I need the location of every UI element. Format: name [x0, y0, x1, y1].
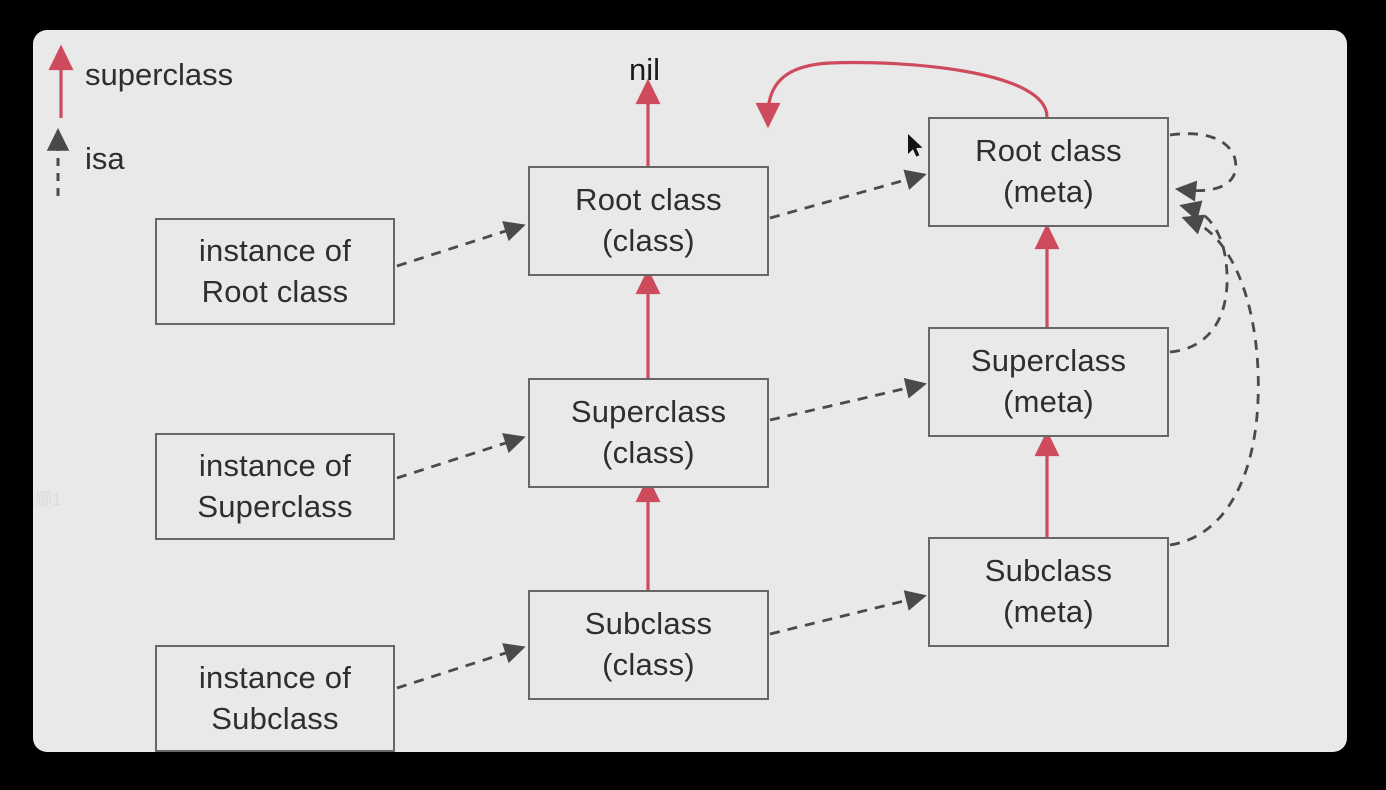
node-root-class[interactable]: Root class (class)	[528, 166, 769, 276]
node-line-2: (class)	[602, 433, 695, 474]
node-line-2: (meta)	[1003, 382, 1094, 423]
node-line-1: Subclass	[985, 551, 1112, 592]
node-instance-of-superclass[interactable]: instance of Superclass	[155, 433, 395, 540]
nil-label: nil	[629, 52, 660, 88]
node-line-1: Root class	[575, 180, 722, 221]
node-line-2: Subclass	[211, 699, 338, 740]
legend-label-superclass: superclass	[85, 57, 233, 93]
legend-label-isa: isa	[85, 141, 125, 177]
node-instance-of-root-class[interactable]: instance of Root class	[155, 218, 395, 325]
node-line-2: (class)	[602, 221, 695, 262]
node-line-2: (meta)	[1003, 592, 1094, 633]
node-subclass-class[interactable]: Subclass (class)	[528, 590, 769, 700]
node-line-1: Subclass	[585, 604, 712, 645]
node-line-2: (meta)	[1003, 172, 1094, 213]
node-root-class-meta[interactable]: Root class (meta)	[928, 117, 1169, 227]
watermark-text: 娜1	[35, 485, 61, 510]
node-line-1: Superclass	[571, 392, 726, 433]
node-line-1: instance of	[199, 446, 351, 487]
node-instance-of-subclass[interactable]: instance of Subclass	[155, 645, 395, 752]
node-line-2: (class)	[602, 645, 695, 686]
node-superclass-class[interactable]: Superclass (class)	[528, 378, 769, 488]
node-line-2: Root class	[202, 272, 349, 313]
node-subclass-meta[interactable]: Subclass (meta)	[928, 537, 1169, 647]
node-line-1: Superclass	[971, 341, 1126, 382]
node-line-1: instance of	[199, 658, 351, 699]
node-superclass-meta[interactable]: Superclass (meta)	[928, 327, 1169, 437]
diagram-screen: superclass isa nil 娜1 instance of Root c…	[0, 0, 1386, 790]
node-line-1: instance of	[199, 231, 351, 272]
node-line-2: Superclass	[197, 487, 352, 528]
node-line-1: Root class	[975, 131, 1122, 172]
